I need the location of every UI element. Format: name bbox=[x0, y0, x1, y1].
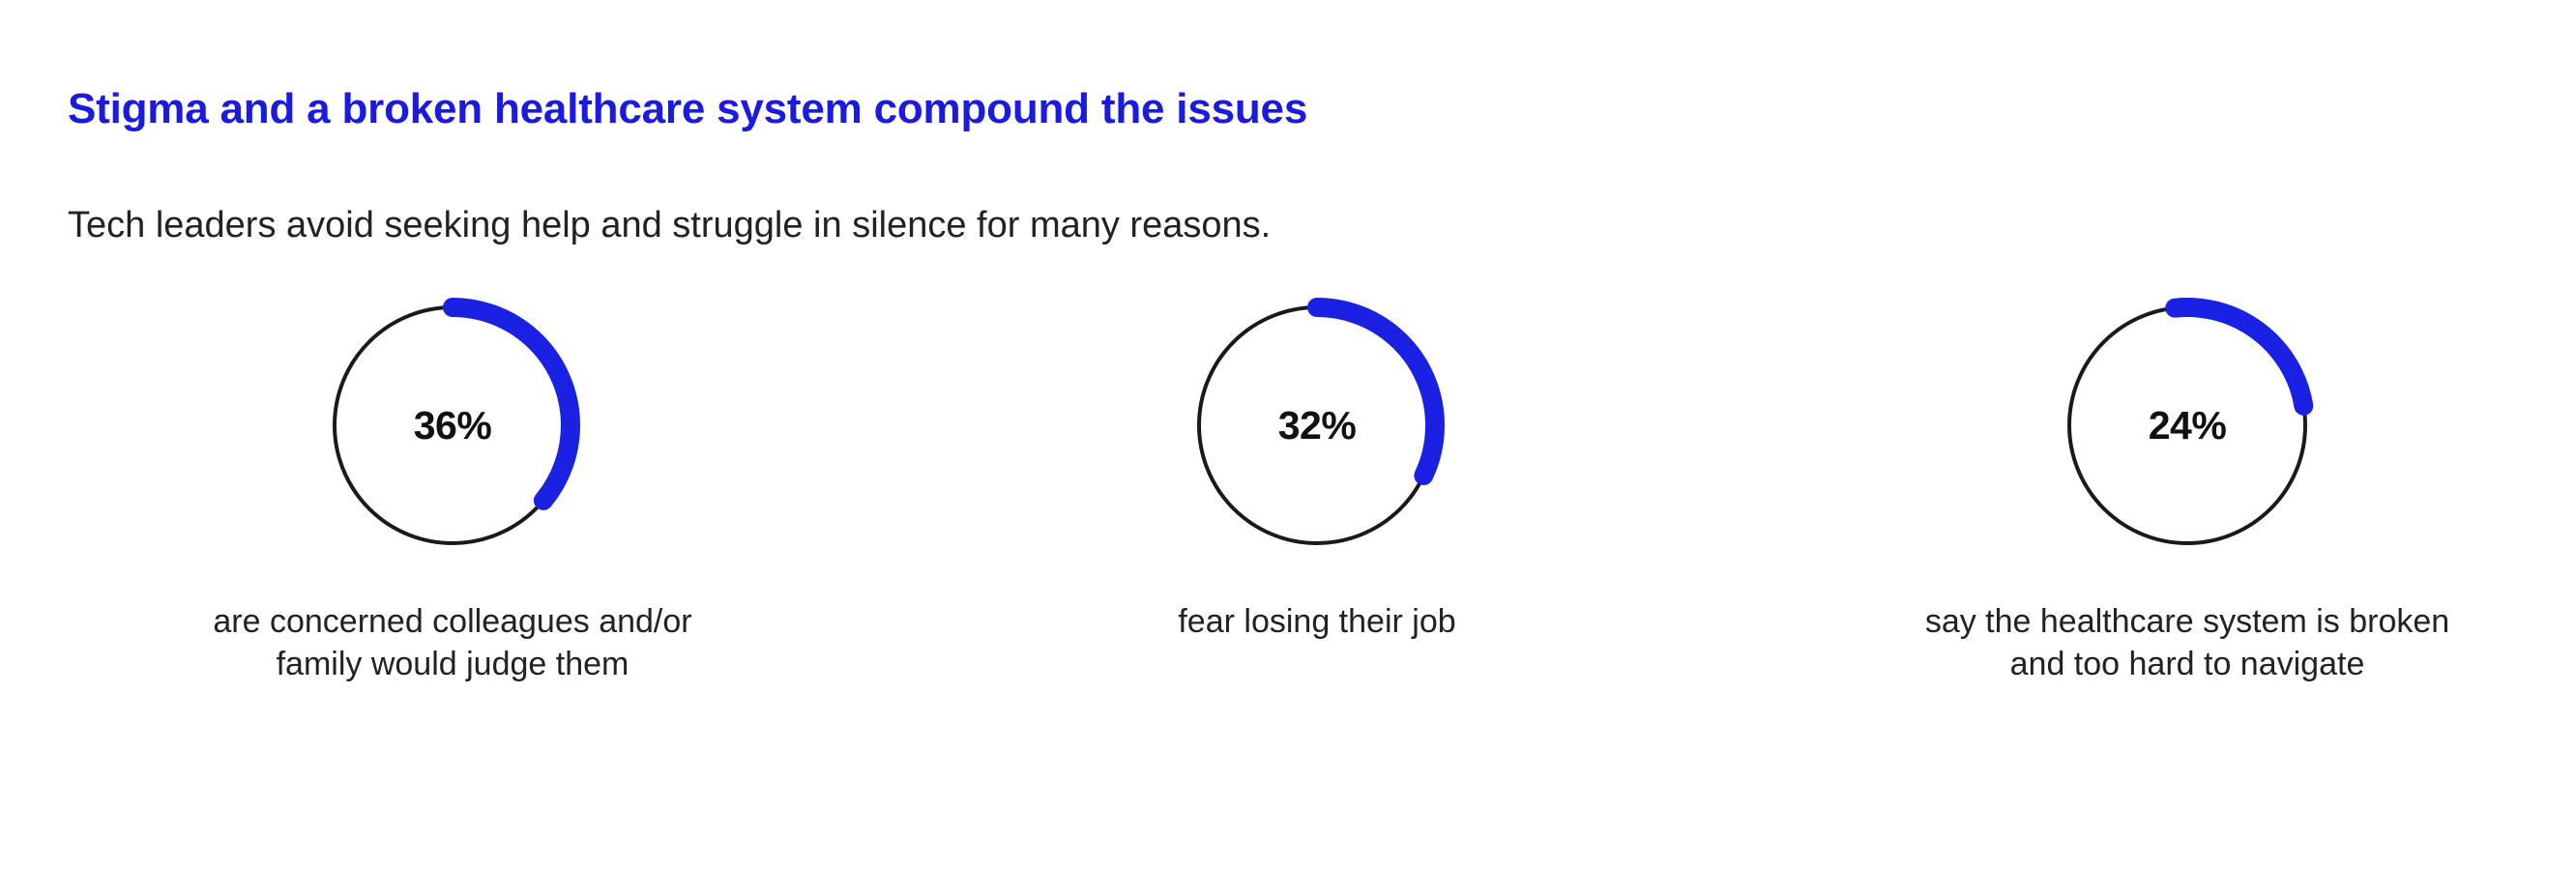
donut-chart-3: 24% bbox=[2052, 290, 2323, 561]
stat-card-2: 32% fear losing their job bbox=[882, 290, 1752, 644]
stat-caption-3: say the healthcare system is broken and … bbox=[1925, 601, 2449, 685]
stat-card-3: 24% say the healthcare system is broken … bbox=[1752, 290, 2576, 685]
donut-value-1: 36% bbox=[317, 290, 588, 561]
donut-value-3: 24% bbox=[2052, 290, 2323, 561]
donut-value-2: 32% bbox=[1182, 290, 1452, 561]
donut-chart-2: 32% bbox=[1182, 290, 1452, 561]
page-subtitle: Tech leaders avoid seeking help and stru… bbox=[68, 207, 1271, 244]
infographic-root: Stigma and a broken healthcare system co… bbox=[0, 0, 2576, 896]
stat-caption-1: are concerned colleagues and/or family w… bbox=[213, 601, 691, 685]
stat-caption-2: fear losing their job bbox=[1178, 601, 1455, 644]
stats-row: 36% are concerned colleagues and/or fami… bbox=[0, 290, 2576, 735]
page-title: Stigma and a broken healthcare system co… bbox=[68, 88, 1307, 130]
donut-chart-1: 36% bbox=[317, 290, 588, 561]
stat-card-1: 36% are concerned colleagues and/or fami… bbox=[17, 290, 888, 685]
